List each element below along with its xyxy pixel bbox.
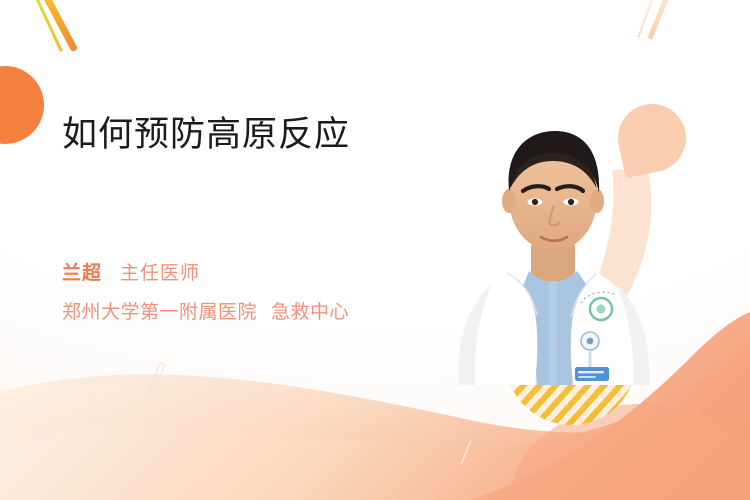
doctor-intro-card: 如何预防高原反应 兰超 主任医师 郑州大学第一附属医院 急救中心	[0, 0, 750, 500]
doctor-affiliation-row: 郑州大学第一附属医院 急救中心	[62, 297, 442, 324]
doctor-name: 兰超	[62, 258, 102, 285]
doctor-meta: 兰超 主任医师 郑州大学第一附属医院 急救中心	[62, 258, 442, 324]
doctor-title: 主任医师	[120, 258, 200, 285]
card-text-block: 如何预防高原反应 兰超 主任医师 郑州大学第一附属医院 急救中心	[62, 114, 442, 324]
doctor-portrait	[445, 95, 660, 385]
doctor-department: 急救中心	[271, 297, 349, 324]
doctor-name-row: 兰超 主任医师	[62, 258, 442, 285]
page-title: 如何预防高原反应	[62, 114, 442, 158]
doctor-hospital: 郑州大学第一附属医院	[62, 297, 257, 324]
